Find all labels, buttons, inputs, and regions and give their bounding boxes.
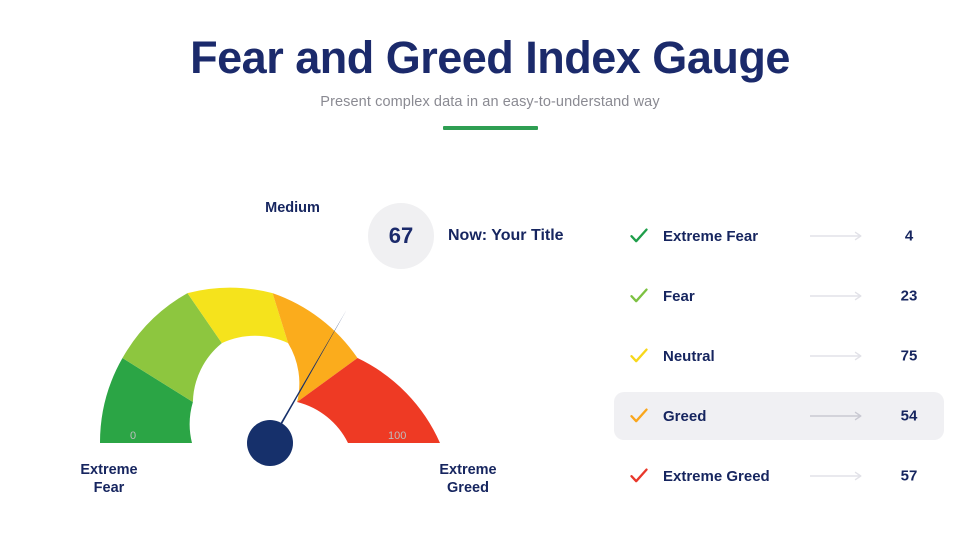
legend-value: 54 [886, 408, 932, 425]
current-value-badge: 67 [368, 203, 434, 269]
legend-list: Extreme Fear4Fear23Neutral75Greed54Extre… [614, 212, 944, 512]
header: Fear and Greed Index Gauge Present compl… [0, 34, 980, 130]
legend-value: 23 [886, 288, 932, 305]
gauge-needle-hub [247, 420, 293, 466]
gauge-scale-max-label: 100 [388, 430, 406, 442]
gauge-left-label-line1: Extreme [54, 461, 164, 479]
gauge-right-label-line1: Extreme [413, 461, 523, 479]
legend-row[interactable]: Neutral75 [614, 332, 944, 380]
legend-row[interactable]: Extreme Greed57 [614, 452, 944, 500]
page-title: Fear and Greed Index Gauge [0, 34, 980, 83]
legend-row[interactable]: Fear23 [614, 272, 944, 320]
legend-label: Greed [663, 408, 706, 425]
check-icon [628, 408, 650, 424]
current-value-title: Now: Your Title [448, 227, 564, 245]
legend-label: Extreme Fear [663, 228, 758, 245]
legend-value: 4 [886, 228, 932, 245]
arrow-right-icon [810, 351, 866, 361]
check-icon [628, 468, 650, 484]
check-icon [628, 288, 650, 304]
accent-divider [443, 126, 538, 130]
gauge-left-label-line2: Fear [54, 479, 164, 497]
gauge-right-label: Extreme Greed [413, 461, 523, 497]
legend-row[interactable]: Greed54 [614, 392, 944, 440]
page-subtitle: Present complex data in an easy-to-under… [0, 94, 980, 110]
legend-value: 57 [886, 468, 932, 485]
arrow-right-icon [810, 471, 866, 481]
arrow-right-icon [810, 231, 866, 241]
gauge-right-label-line2: Greed [413, 479, 523, 497]
check-icon [628, 228, 650, 244]
gauge-segments [100, 288, 440, 443]
legend-row[interactable]: Extreme Fear4 [614, 212, 944, 260]
legend-label: Neutral [663, 348, 715, 365]
arrow-right-icon [810, 411, 866, 421]
legend-label: Extreme Greed [663, 468, 770, 485]
slide-canvas: Fear and Greed Index Gauge Present compl… [0, 0, 980, 551]
legend-label: Fear [663, 288, 695, 305]
arrow-right-icon [810, 291, 866, 301]
gauge-left-label: Extreme Fear [54, 461, 164, 497]
legend-value: 75 [886, 348, 932, 365]
gauge-scale-min-label: 0 [130, 430, 136, 442]
current-value-group: 67 Now: Your Title [368, 203, 564, 269]
check-icon [628, 348, 650, 364]
